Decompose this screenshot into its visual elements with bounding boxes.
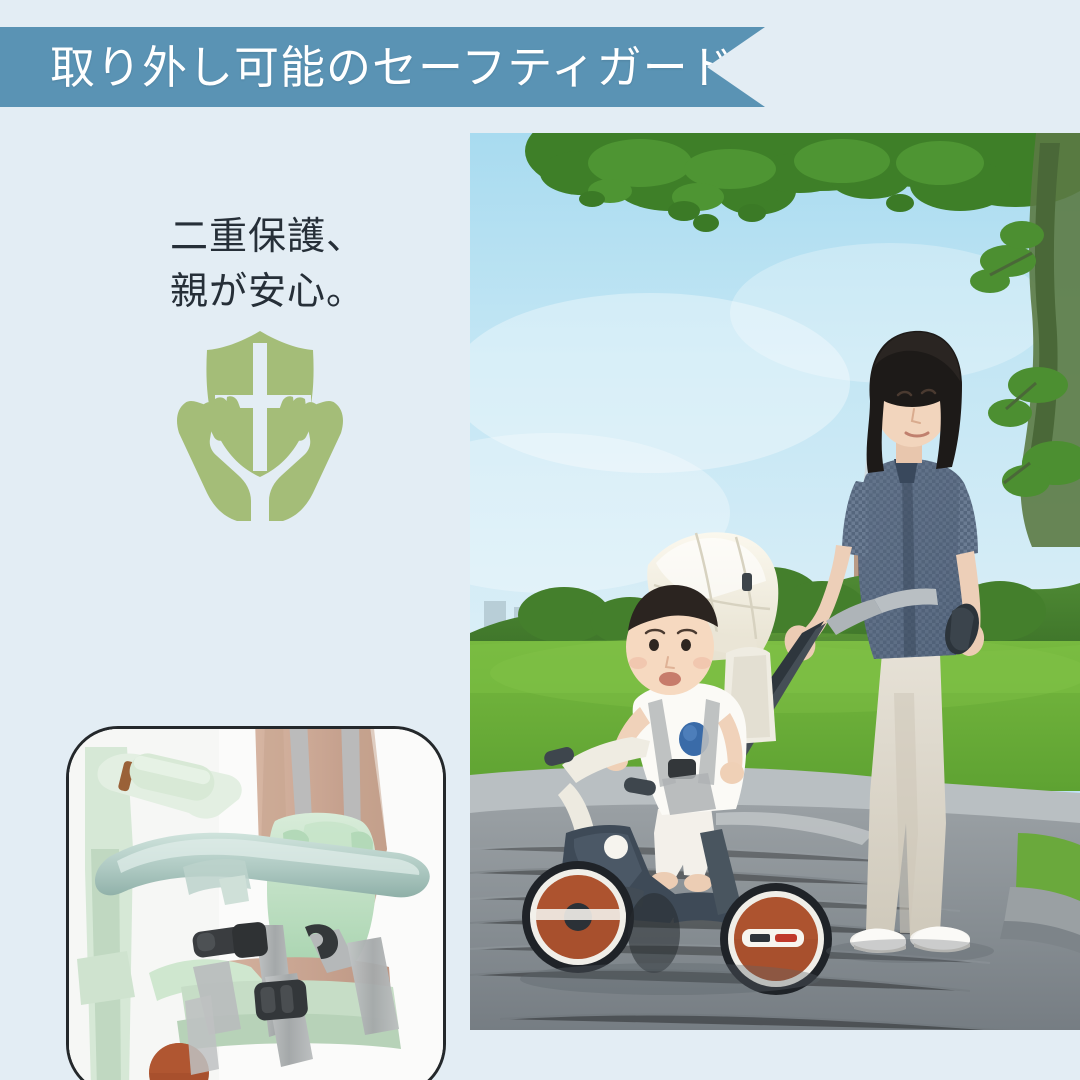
lifestyle-park-photo (470, 133, 1080, 1030)
left-content-column: 二重保護、 親が安心。 (0, 110, 470, 1080)
tagline-block: 二重保護、 親が安心。 (170, 210, 365, 320)
product-feature-page: 取り外し可能のセーフティガード 二重保護、 親が安心。 (0, 0, 1080, 1080)
safety-guard-closeup-photo (66, 726, 446, 1080)
tagline-line-2: 親が安心。 (170, 265, 365, 320)
shield-in-hands-icon (145, 325, 375, 530)
closeup-photo-canvas (69, 729, 443, 1080)
tagline-line-1: 二重保護、 (170, 210, 365, 265)
page-title: 取り外し可能のセーフティガード (50, 45, 735, 90)
header-ribbon-banner: 取り外し可能のセーフティガード (0, 27, 765, 107)
